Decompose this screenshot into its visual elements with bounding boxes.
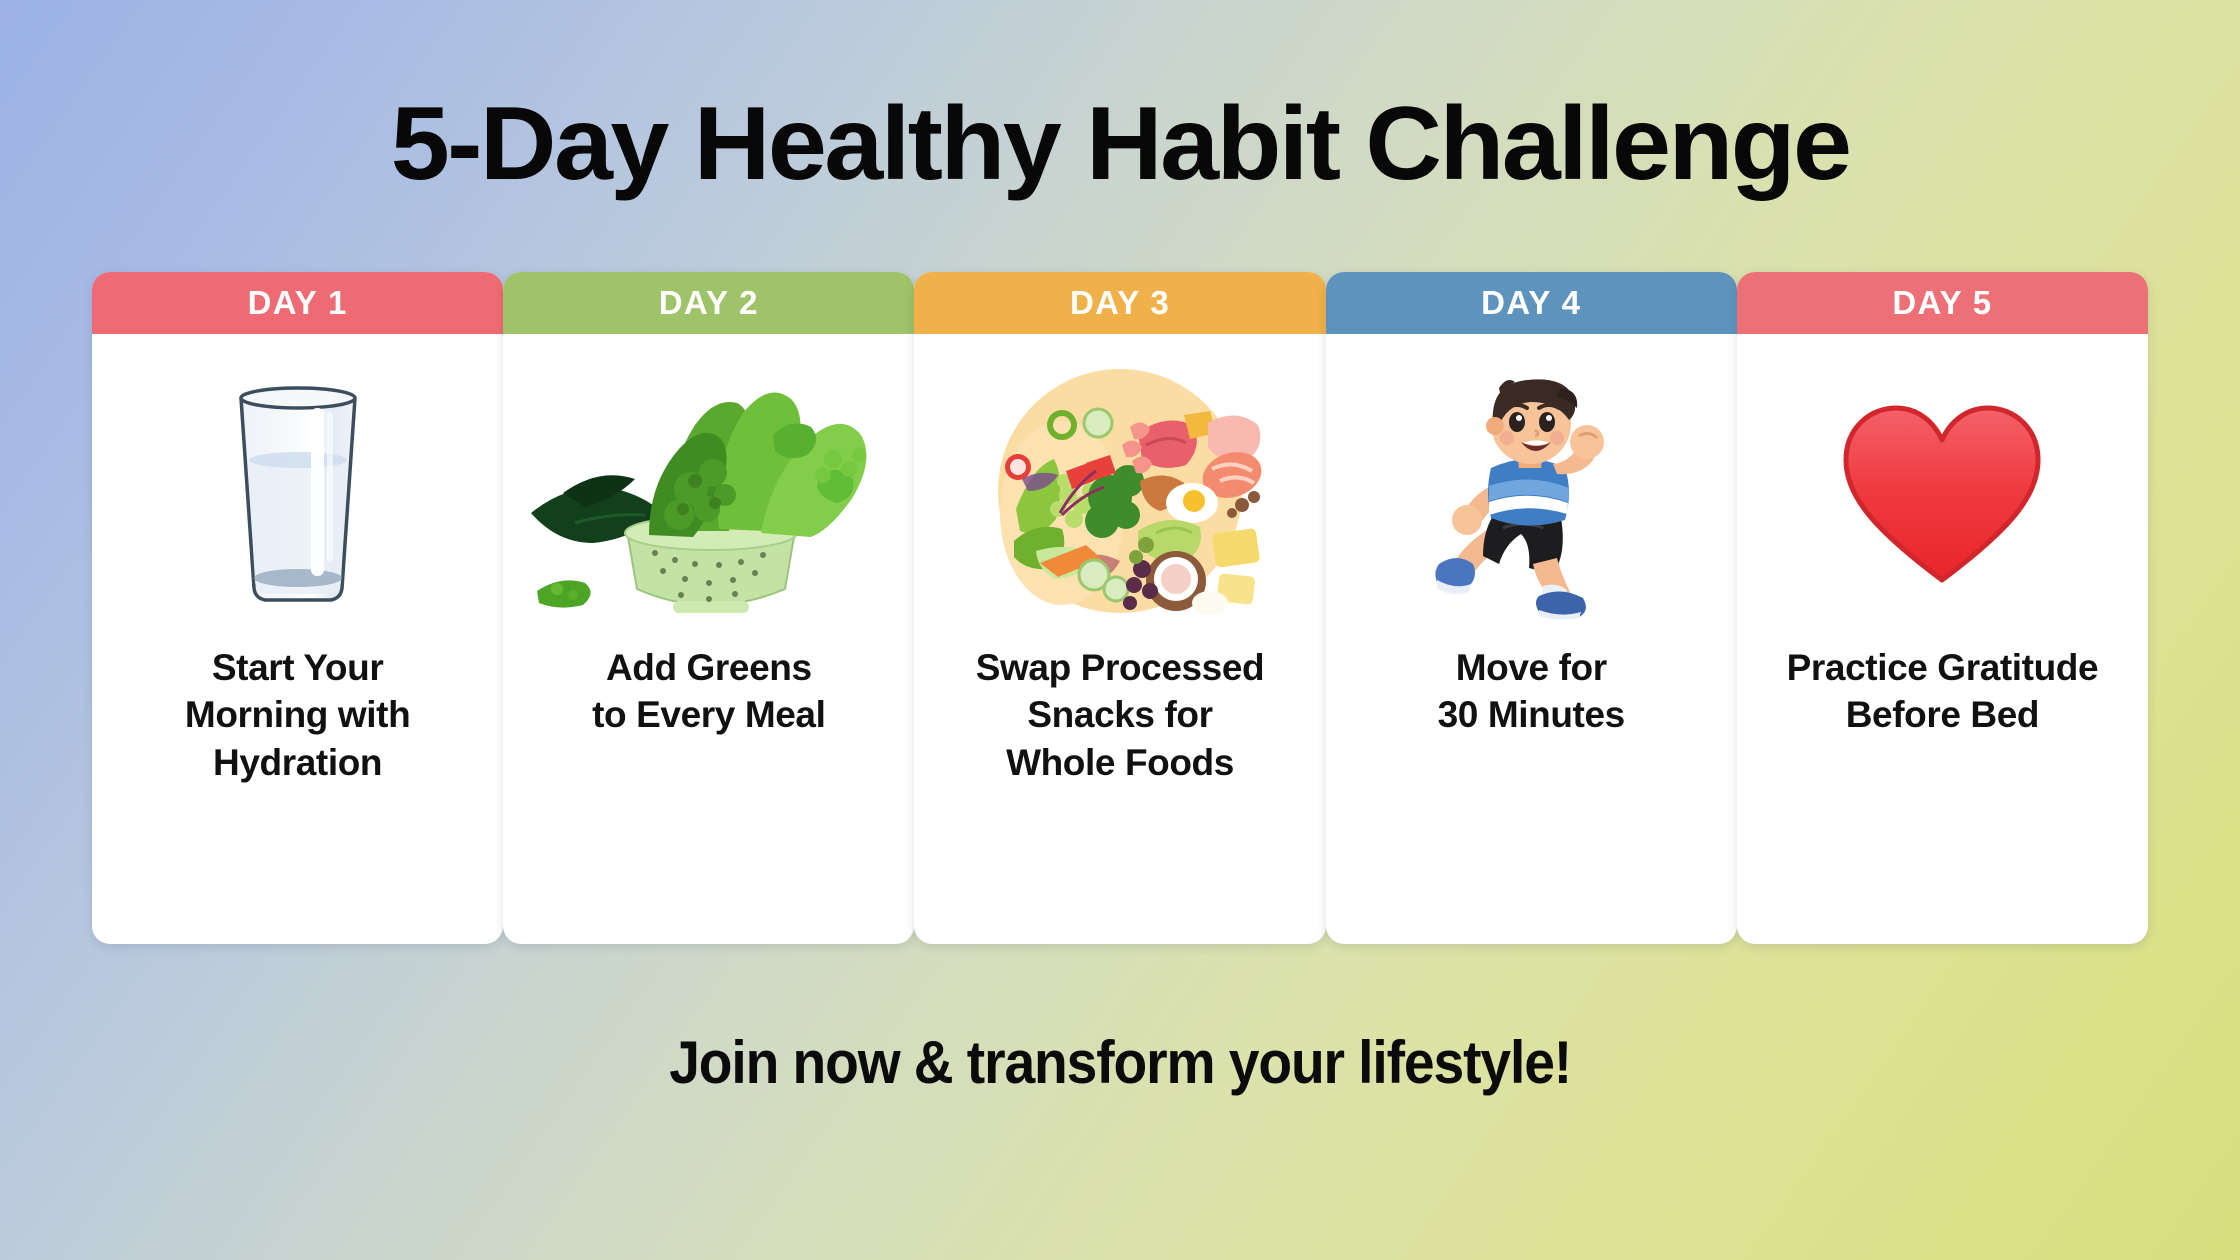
day-card-4[interactable]: DAY 4	[1326, 272, 1737, 944]
leafy-greens-colander-icon	[521, 360, 896, 628]
caption-line: 30 Minutes	[1344, 691, 1719, 738]
day-cards-row: DAY 1	[40, 272, 2200, 944]
caption-line: Before Bed	[1755, 691, 2130, 738]
infographic-poster: 5-Day Healthy Habit Challenge DAY 1	[0, 0, 2240, 1260]
caption-line: Start Your	[110, 644, 485, 691]
caption-line: to Every Meal	[521, 691, 896, 738]
day-card-4-body: Move for 30 Minutes	[1326, 334, 1737, 944]
day-card-2-caption: Add Greens to Every Meal	[521, 644, 896, 739]
day-card-3[interactable]: DAY 3	[914, 272, 1325, 944]
day-card-2-header: DAY 2	[503, 272, 914, 334]
day-card-4-header: DAY 4	[1326, 272, 1737, 334]
whole-foods-plate-icon	[932, 360, 1307, 628]
caption-line: Practice Gratitude	[1755, 644, 2130, 691]
caption-line: Move for	[1344, 644, 1719, 691]
water-glass-icon	[110, 360, 485, 628]
day-card-5[interactable]: DAY 5 Practice	[1737, 272, 2148, 944]
day-card-3-caption: Swap Processed Snacks for Whole Foods	[932, 644, 1307, 786]
day-card-1-caption: Start Your Morning with Hydration	[110, 644, 485, 786]
day-card-3-header: DAY 3	[914, 272, 1325, 334]
day-card-2[interactable]: DAY 2	[503, 272, 914, 944]
day-card-1-header: DAY 1	[92, 272, 503, 334]
caption-line: Whole Foods	[932, 739, 1307, 786]
day-card-4-caption: Move for 30 Minutes	[1344, 644, 1719, 739]
caption-line: Swap Processed	[932, 644, 1307, 691]
call-to-action-text: Join now & transform your lifestyle!	[669, 1028, 1571, 1097]
day-card-2-body: Add Greens to Every Meal	[503, 334, 914, 944]
caption-line: Snacks for	[932, 691, 1307, 738]
day-card-1-body: Start Your Morning with Hydration	[92, 334, 503, 944]
day-card-3-body: Swap Processed Snacks for Whole Foods	[914, 334, 1325, 944]
day-card-5-body: Practice Gratitude Before Bed	[1737, 334, 2148, 944]
day-card-5-header: DAY 5	[1737, 272, 2148, 334]
caption-line: Add Greens	[521, 644, 896, 691]
red-heart-icon	[1755, 360, 2130, 628]
day-card-5-caption: Practice Gratitude Before Bed	[1755, 644, 2130, 739]
day-card-1[interactable]: DAY 1	[92, 272, 503, 944]
page-title: 5-Day Healthy Habit Challenge	[391, 92, 1850, 196]
caption-line: Hydration	[110, 739, 485, 786]
running-boy-icon	[1344, 360, 1719, 628]
caption-line: Morning with	[110, 691, 485, 738]
